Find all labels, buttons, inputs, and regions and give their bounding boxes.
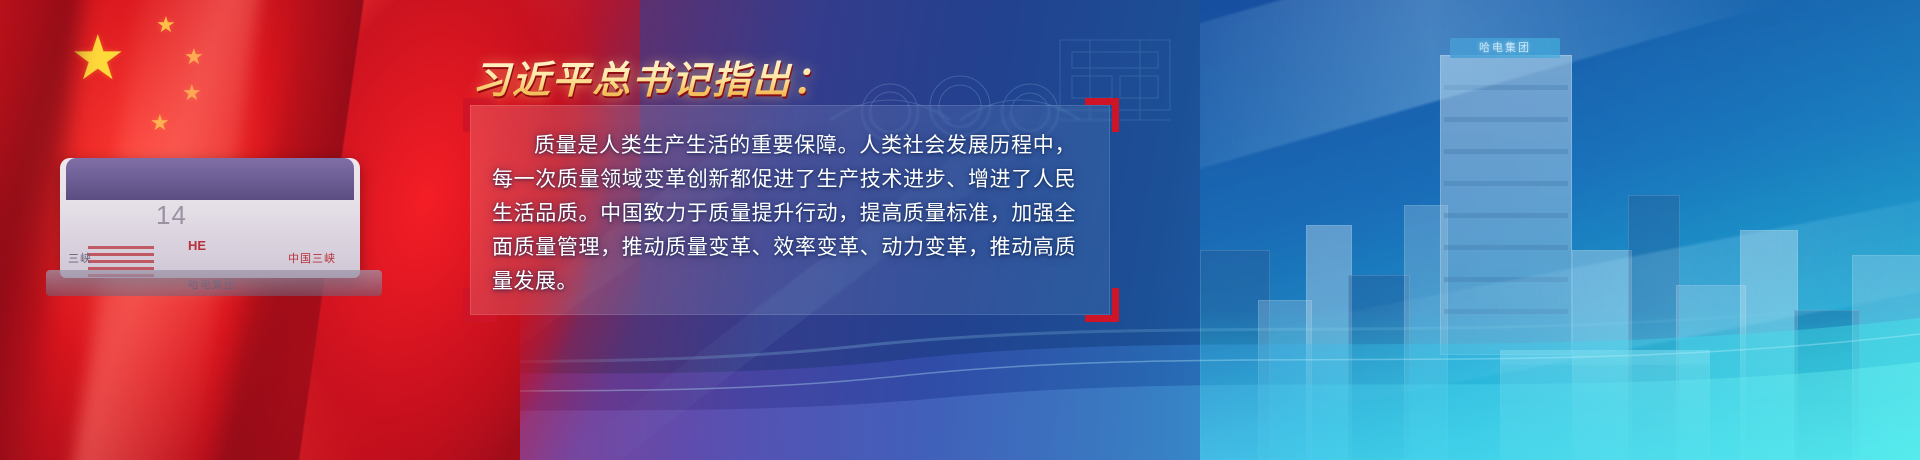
quote-text: 质量是人类生产生活的重要保障。人类社会发展历程中，每一次质量领域变革创新都促进了… [492,128,1076,298]
unit-body: 14 HE 哈电集团 三峡 中国三峡 [60,158,360,278]
unit-base [46,270,382,296]
unit-side-text-right: 中国三峡 [288,250,336,266]
corner-bracket-top-right [1085,98,1119,132]
unit-side-text-left: 三峡 [68,250,92,266]
unit-number: 14 [156,200,187,231]
unit-brand-mark: HE [168,238,226,272]
generator-unit: 14 HE 哈电集团 三峡 中国三峡 [60,140,380,300]
promotional-banner: 哈电集团 [0,0,1920,460]
unit-top-cover [66,158,354,200]
headline-title: 习近平总书记指出： [472,55,812,105]
corner-bracket-bottom-right [1085,288,1119,322]
